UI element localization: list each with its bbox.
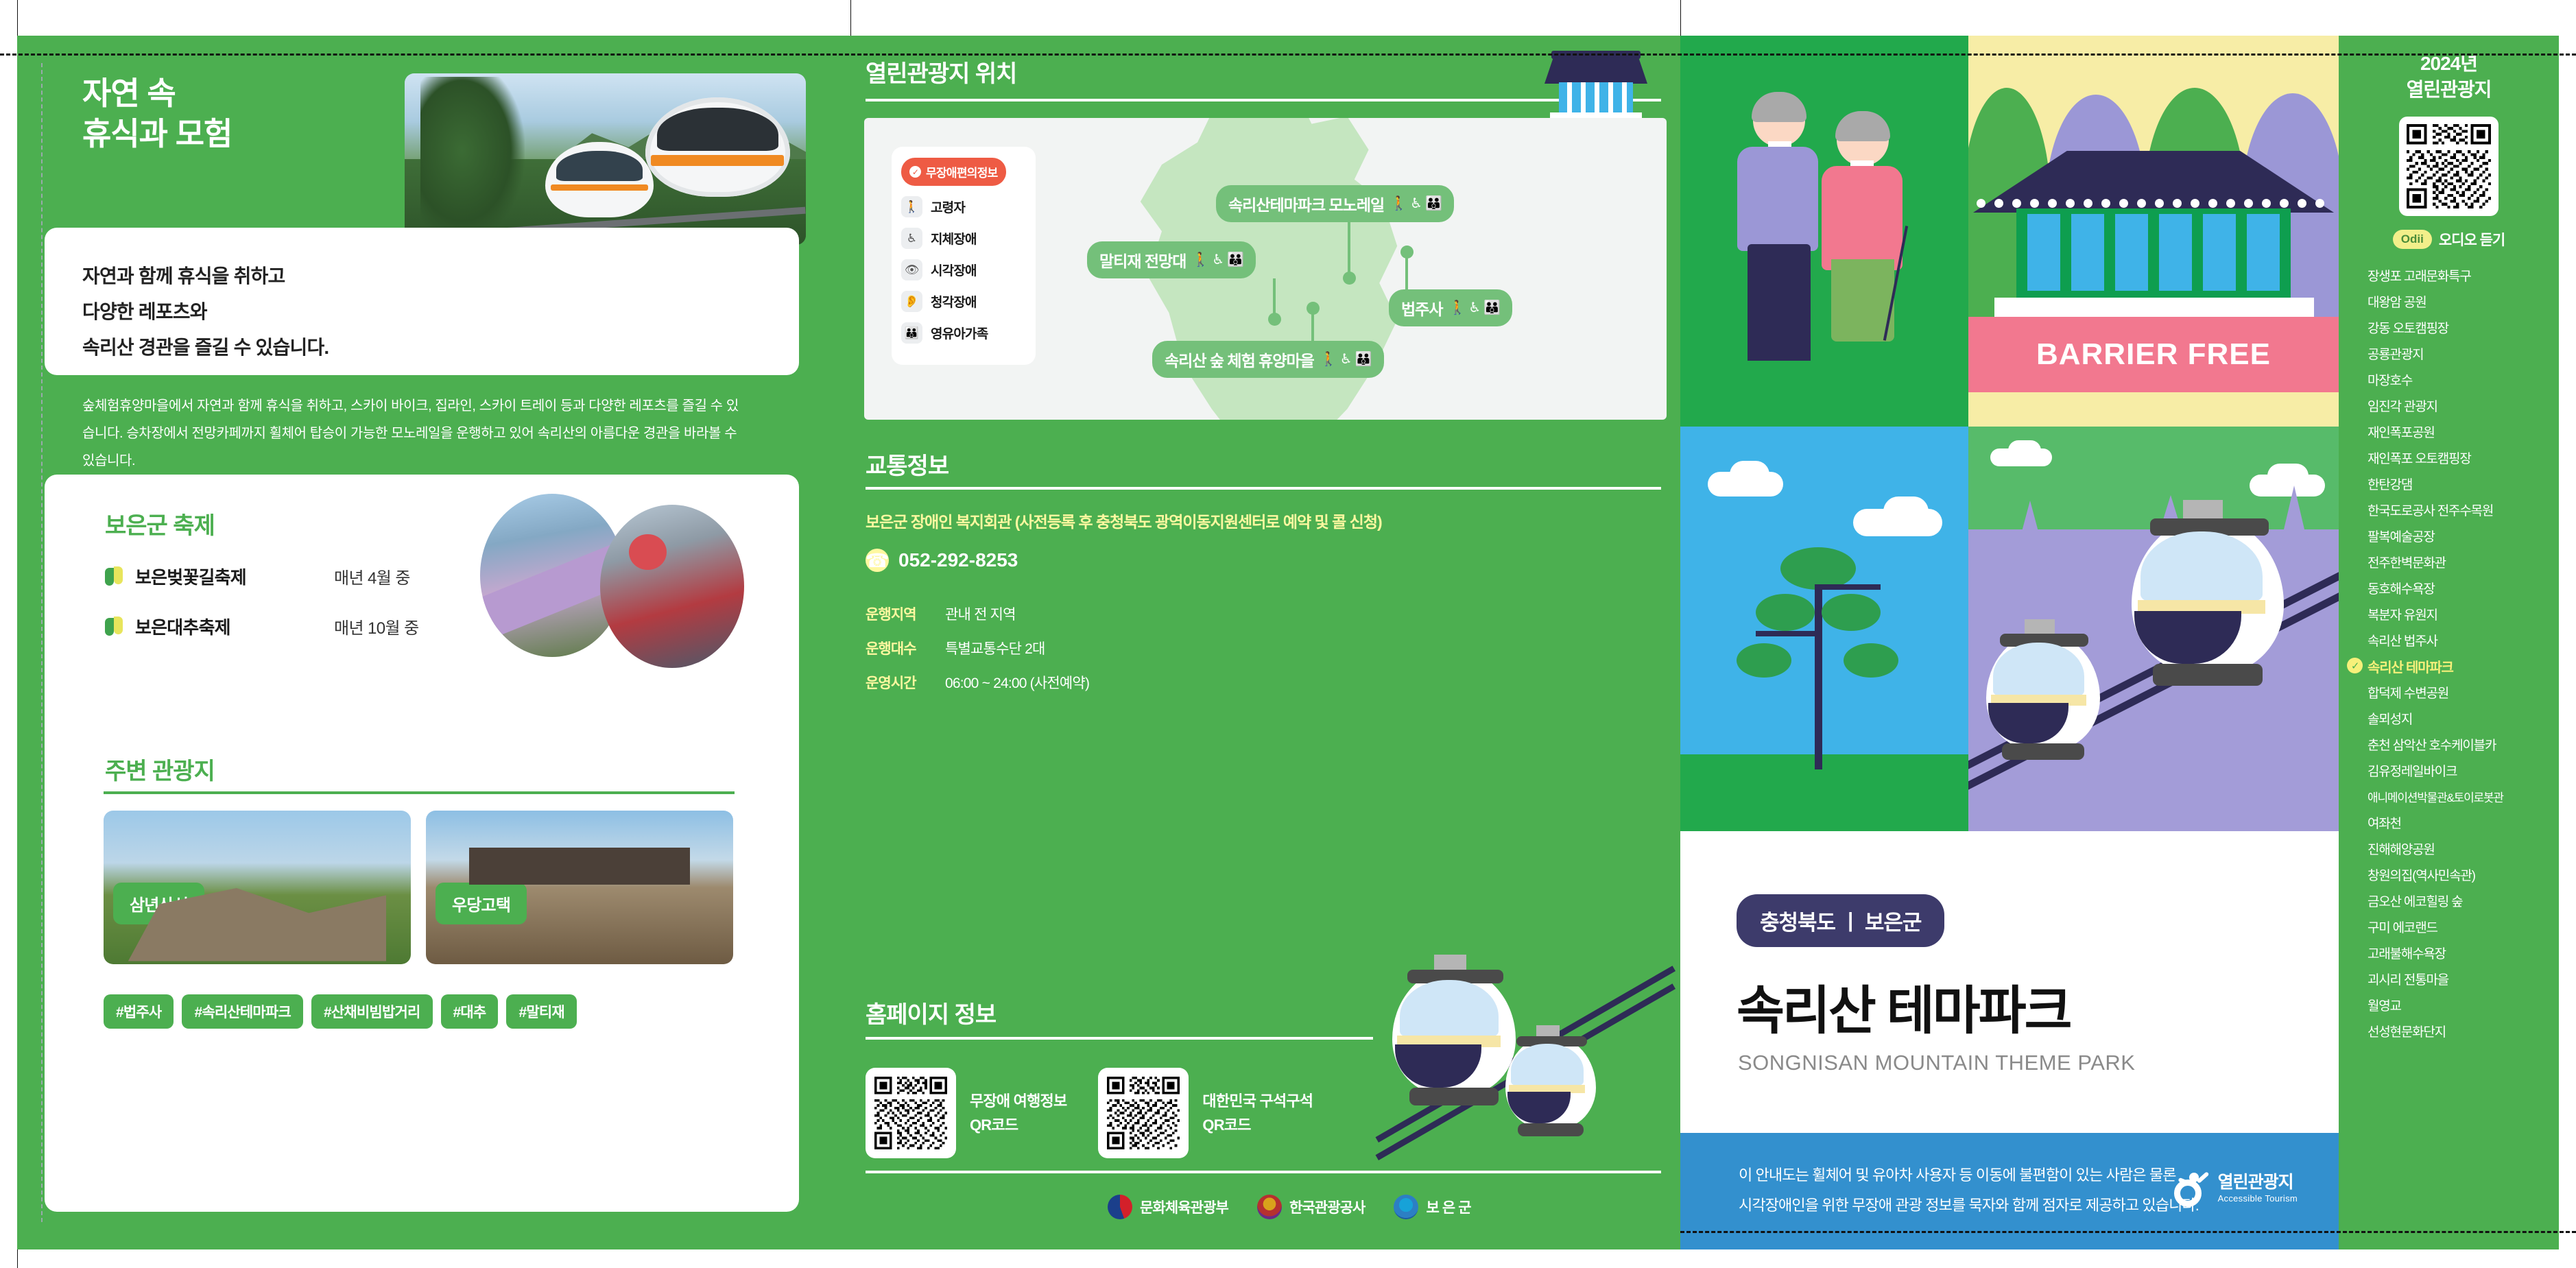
hashtag-chip[interactable]: #법주사 — [104, 994, 174, 1029]
gate-roof — [1545, 56, 1647, 84]
map-marker-icons: 🚶 ♿ 👪 — [1448, 301, 1500, 315]
map-marker-label: 법주사 — [1401, 296, 1442, 320]
festival-nearby-card: 보은군 축제 보은벚꽃길축제 매년 4월 중 보은대추축제 매년 10월 중 주… — [45, 475, 799, 1212]
pine-branch — [1815, 584, 1881, 590]
crop-mark-v4 — [17, 1249, 18, 1268]
traffic-row-value: 관내 전 지역 — [945, 603, 1016, 624]
marker-dot — [1307, 302, 1320, 315]
hashtag-chip[interactable]: #대추 — [441, 994, 499, 1029]
partner-logo-boeun: 보 은 군 — [1394, 1195, 1470, 1219]
qr-code-image — [1098, 1068, 1189, 1158]
family-icon: 👪 — [1483, 301, 1500, 315]
index-item[interactable]: 합덕제 수변공원 — [2339, 679, 2559, 705]
legend-label: 영유아가족 — [931, 324, 988, 342]
crop-mark-v1 — [17, 0, 18, 36]
footer-rule — [866, 1171, 1661, 1173]
index-item[interactable]: 솔뫼성지 — [2339, 705, 2559, 731]
intro-card-text: 자연과 함께 휴식을 취하고 다양한 레포츠와 속리산 경관을 즐길 수 있습니… — [82, 259, 329, 365]
monorail-illustration — [1379, 955, 1667, 1174]
index-item-list: 장생포 고래문화특구 대왕암 공원 강동 오토캠핑장 공룡관광지 마장호수 임진… — [2339, 262, 2559, 1044]
woman-hair — [1835, 111, 1890, 141]
cabin-lower-body — [1395, 1044, 1481, 1088]
map-marker-label: 속리산 숲 체험 휴양마을 — [1165, 348, 1314, 371]
crop-mark-v3 — [1680, 0, 1681, 36]
wheelchair-icon: ♿ — [1410, 197, 1422, 211]
illustration-monorail-mountain — [1968, 427, 2339, 831]
traffic-section-title: 교통정보 — [866, 447, 949, 481]
qr-label-line1: 무장애 여행정보 — [970, 1089, 1066, 1113]
index-item-selected-label: 속리산 테마파크 — [2368, 656, 2453, 676]
nearby-photo-card[interactable]: 삼년산성 — [104, 811, 411, 964]
photo-car-rear-stripe — [551, 184, 648, 191]
index-item[interactable]: 마장호수 — [2339, 366, 2559, 392]
hashtag-list: #법주사 #속리산테마파크 #산채비빔밥거리 #대추 #말티재 — [104, 994, 577, 1029]
cabin-base — [2002, 743, 2084, 760]
hanok-body — [2016, 208, 2291, 298]
photo-pine-tree — [420, 77, 525, 241]
index-item[interactable]: 복분자 유원지 — [2339, 601, 2559, 627]
index-item[interactable]: 고래불해수욕장 — [2339, 940, 2559, 966]
map-marker-beopjusa[interactable]: 법주사 🚶 ♿ 👪 — [1389, 289, 1512, 326]
map-marker-maltijae[interactable]: 말티재 전망대 🚶 ♿ 👪 — [1087, 241, 1256, 278]
audio-guide-row[interactable]: Odii 오디오 듣기 — [2339, 229, 2559, 250]
traffic-row-value: 특별교통수단 2대 — [945, 638, 1045, 658]
audio-guide-label: 오디오 듣기 — [2439, 229, 2505, 250]
index-item[interactable]: 여좌천 — [2339, 809, 2559, 835]
fold-line-top — [0, 53, 2576, 56]
monorail-cabin-lower — [1505, 1036, 1596, 1129]
traffic-title-rule — [866, 487, 1661, 490]
panel-a-title: 자연 속 휴식과 모험 — [82, 73, 232, 154]
festival-name: 보은대추축제 — [135, 614, 334, 639]
panel-nature-info: 자연 속 휴식과 모험 자연과 함께 휴식을 취하고 다양한 레포츠와 속리산 … — [17, 36, 850, 1249]
map-marker-forest-village[interactable]: 속리산 숲 체험 휴양마을 🚶 ♿ 👪 — [1152, 341, 1384, 378]
hearing-impaired-icon: 👂 — [901, 291, 922, 312]
partner-name: 한국관광공사 — [1289, 1197, 1365, 1217]
traffic-row-area: 운행지역 관내 전 지역 — [866, 603, 1016, 624]
cloud-icon — [2008, 440, 2041, 461]
traffic-row-key: 운행대수 — [866, 638, 931, 658]
elderly-woman-figure — [1809, 104, 1912, 372]
panel-map-traffic: 열린관광지 위치 ✓ 무장애편의정보 🚶 고령자 — [850, 36, 1680, 1249]
traffic-phone-number: 052-292-8253 — [898, 549, 1018, 571]
homepage-section-title: 홈페이지 정보 — [866, 996, 996, 1029]
illustration-elderly-couple — [1680, 36, 1968, 427]
family-icon: 👪 — [1425, 197, 1442, 211]
bleed-guide-left — [41, 63, 43, 1222]
brochure-sheet: 자연 속 휴식과 모험 자연과 함께 휴식을 취하고 다양한 레포츠와 속리산 … — [0, 0, 2576, 1268]
legend-label: 지체장애 — [931, 229, 977, 248]
festival-section-title: 보은군 축제 — [105, 507, 215, 540]
partner-logo-kto: 한국관광공사 — [1257, 1195, 1365, 1219]
legend-row-vision: 👁 시각장애 — [901, 259, 1026, 280]
map-marker-label: 말티재 전망대 — [1099, 248, 1186, 272]
barrier-free-text: BARRIER FREE — [2036, 337, 2271, 372]
map-marker-monorail[interactable]: 속리산테마파크 모노레일 🚶 ♿ 👪 — [1216, 185, 1454, 222]
panel-site-index: 2024년 열린관광지 — [2339, 36, 2559, 1249]
qr-code-image — [866, 1068, 956, 1158]
qr-label-line1: 대한민국 구석구석 — [1202, 1089, 1313, 1113]
festival-name: 보은벚꽃길축제 — [135, 564, 334, 589]
photo-car-front-stripe — [651, 155, 784, 166]
check-icon: ✓ — [909, 166, 921, 178]
hashtag-chip[interactable]: #산채비빔밥거리 — [311, 994, 433, 1029]
pine-branch — [1756, 631, 1819, 636]
index-qr-code[interactable] — [2399, 117, 2499, 216]
festival-date: 매년 4월 중 — [334, 564, 410, 588]
index-item-selected[interactable]: ✓ 속리산 테마파크 — [2339, 653, 2559, 679]
illustration-hanok-pavilion: BARRIER FREE — [1968, 36, 2339, 427]
traffic-phone[interactable]: ☎ 052-292-8253 — [866, 549, 1018, 572]
cabin-base — [2153, 664, 2263, 686]
nearby-photo-label: 우당고택 — [436, 883, 527, 924]
pine-ground — [1680, 754, 1968, 831]
index-item[interactable]: 공룡관광지 — [2339, 340, 2559, 366]
legend-label: 청각장애 — [931, 292, 977, 311]
homepage-title-rule — [866, 1037, 1373, 1040]
nearby-photo-card[interactable]: 우당고택 — [426, 811, 733, 964]
index-item[interactable]: 김유정레일바이크 — [2339, 757, 2559, 783]
index-item[interactable]: 재인폭포공원 — [2339, 418, 2559, 444]
panel-a-title-line1: 자연 속 — [82, 73, 232, 114]
legend-row-wheelchair: ♿ 지체장애 — [901, 228, 1026, 249]
festival-row: 보은대추축제 매년 10월 중 — [105, 614, 419, 639]
nearby-photo-list: 삼년산성 우당고택 — [104, 811, 733, 964]
qr-label-line2: QR코드 — [970, 1113, 1066, 1137]
cloud-icon — [1730, 461, 1769, 488]
pine-foliage — [1737, 643, 1791, 678]
cloud-icon — [1883, 497, 1929, 527]
wheelchair-icon: ♿ — [901, 228, 922, 249]
qr-label: 무장애 여행정보 QR코드 — [970, 1089, 1066, 1137]
man-hair — [1752, 92, 1806, 122]
odii-brand-chip: Odii — [2393, 230, 2432, 249]
qr-item-korea-guide[interactable]: 대한민국 구석구석 QR코드 — [1098, 1068, 1313, 1158]
map-marker-icons: 🚶 ♿ 👪 — [1192, 253, 1243, 267]
photo-car-rear-window — [556, 151, 643, 181]
map-marker-icons: 🚶 ♿ 👪 — [1390, 197, 1442, 211]
index-item[interactable]: 괴시리 전통마을 — [2339, 966, 2559, 992]
gate-body — [1559, 82, 1633, 113]
traffic-row-hours: 운영시간 06:00 ~ 24:00 (사전예약) — [866, 672, 1089, 693]
index-title-label: 열린관광지 — [2339, 77, 2559, 103]
intro-line-2: 다양한 레포츠와 — [82, 301, 207, 322]
marker-stem — [1348, 221, 1350, 277]
cloud-icon — [2267, 464, 2309, 488]
accessible-tourism-wordmark: 열린관광지 Accessible Tourism — [2218, 1173, 2298, 1206]
footer-line-2: 시각장애인을 위한 무장애 관광 정보를 묵자와 함께 점자로 제공하고 있습니… — [1739, 1197, 2199, 1214]
legend-row-elderly: 🚶 고령자 — [901, 196, 1026, 217]
cabin-base — [1518, 1123, 1583, 1136]
qr-code-list: 무장애 여행정보 QR코드 — [866, 1068, 1313, 1158]
man-cardigan — [1737, 147, 1818, 251]
legend-label: 시각장애 — [931, 261, 977, 279]
index-item[interactable]: 선성현문화단지 — [2339, 1018, 2559, 1044]
footer-line-1: 이 안내도는 휠체어 및 유아차 사용자 등 이동에 불편함이 있는 사람은 물… — [1739, 1167, 2176, 1184]
festival-photo-jujube-market — [600, 505, 744, 668]
cabin-base — [1409, 1088, 1499, 1105]
index-item[interactable]: 애니메이션박물관&토이로봇관 — [2339, 783, 2559, 809]
index-item[interactable]: 한국도로공사 전주수목원 — [2339, 497, 2559, 523]
wheelchair-icon: ♿ — [1212, 253, 1224, 267]
festival-list: 보은벚꽃길축제 매년 4월 중 보은대추축제 매년 10월 중 — [105, 564, 419, 664]
legend-title-chip: ✓ 무장애편의정보 — [901, 158, 1006, 186]
elderly-icon: 🚶 — [1320, 352, 1337, 366]
pine-foliage — [1844, 643, 1898, 678]
map-marker-icons: 🚶 ♿ 👪 — [1320, 352, 1372, 366]
elderly-icon: 🚶 — [1390, 197, 1407, 211]
cover-title-korean: 속리산 테마파크 — [1737, 968, 2071, 1044]
accessible-sites-map[interactable]: ✓ 무장애편의정보 🚶 고령자 ♿ 지체장애 👁 시각장애 👂 청각장 — [864, 118, 1667, 420]
intro-line-1: 자연과 함께 휴식을 취하고 — [82, 265, 285, 287]
marker-dot — [1343, 272, 1356, 285]
index-item[interactable]: 강동 오토캠핑장 — [2339, 314, 2559, 340]
mcst-emblem-icon — [1108, 1195, 1132, 1219]
fold-line-bottom — [1680, 1231, 2576, 1233]
index-item[interactable]: 진해해양공원 — [2339, 835, 2559, 861]
logo-korean: 열린관광지 — [2218, 1173, 2298, 1193]
qr-label: 대한민국 구석구석 QR코드 — [1202, 1089, 1313, 1137]
woman-jacket — [1822, 166, 1903, 270]
festival-row: 보은벚꽃길축제 매년 4월 중 — [105, 564, 419, 589]
map-legend: ✓ 무장애편의정보 🚶 고령자 ♿ 지체장애 👁 시각장애 👂 청각장 — [892, 147, 1036, 365]
illustration-pine-scene — [1680, 427, 1968, 831]
region-badge: 충청북도 ㅣ 보은군 — [1737, 894, 1944, 947]
index-item[interactable]: 속리산 법주사 — [2339, 627, 2559, 653]
hashtag-chip[interactable]: #말티재 — [506, 994, 576, 1029]
monorail-cabin-upper — [1392, 968, 1516, 1095]
logo-english: Accessible Tourism — [2218, 1193, 2298, 1204]
index-title: 2024년 열린관광지 — [2339, 51, 2559, 103]
panel-cover: BARRIER FREE — [1680, 36, 2339, 1249]
marker-dot — [1400, 246, 1414, 259]
traffic-main-text: 보은군 장애인 복지회관 (사전등록 후 충청북도 광역이동지원센터로 예약 및… — [866, 509, 1382, 532]
wheelchair-icon: ♿ — [1340, 352, 1352, 366]
cover-title-english: SONGNISAN MOUNTAIN THEME PARK — [1738, 1051, 2135, 1075]
intro-line-3: 속리산 경관을 즐길 수 있습니다. — [82, 337, 329, 358]
index-item[interactable]: 동호해수욕장 — [2339, 575, 2559, 601]
family-icon: 👪 — [901, 322, 922, 344]
boeun-emblem-icon — [1394, 1195, 1418, 1219]
kto-emblem-icon — [1257, 1195, 1282, 1219]
index-item[interactable]: 대왕암 공원 — [2339, 288, 2559, 314]
accessible-tourism-icon — [2174, 1171, 2210, 1207]
cabin-window — [2140, 531, 2263, 602]
panel-a-title-line2: 휴식과 모험 — [82, 114, 232, 154]
vision-impaired-icon: 👁 — [901, 259, 922, 280]
barrier-free-banner: BARRIER FREE — [1968, 317, 2339, 392]
pine-foliage — [1756, 594, 1815, 631]
elderly-icon: 🚶 — [1448, 301, 1465, 315]
cabin-window — [1993, 643, 2084, 695]
qr-label-line2: QR코드 — [1202, 1113, 1313, 1137]
cabin-window — [1511, 1044, 1584, 1086]
leaf-icon — [105, 617, 123, 637]
phone-icon: ☎ — [866, 549, 889, 572]
map-marker-label: 속리산테마파크 모노레일 — [1228, 192, 1384, 215]
photo-monorail-car-rear — [545, 142, 654, 217]
traffic-row-key: 운영시간 — [866, 672, 931, 693]
elderly-icon: 🚶 — [901, 196, 922, 217]
hashtag-chip[interactable]: #속리산테마파크 — [182, 994, 303, 1029]
index-item[interactable]: 장생포 고래문화특구 — [2339, 262, 2559, 288]
legend-label: 고령자 — [931, 198, 965, 216]
legend-row-family: 👪 영유아가족 — [901, 322, 1026, 344]
hanok-gate-icon — [1545, 47, 1647, 119]
qr-item-barrier-free-travel[interactable]: 무장애 여행정보 QR코드 — [866, 1068, 1066, 1158]
nearby-photo-label: 삼년산성 — [113, 883, 204, 924]
cabin-lower-body — [1507, 1092, 1571, 1123]
elderly-icon: 🚶 — [1192, 253, 1208, 267]
traffic-row-value: 06:00 ~ 24:00 (사전예약) — [945, 672, 1089, 693]
nearby-section-title: 주변 관광지 — [105, 752, 215, 786]
legend-row-hearing: 👂 청각장애 — [901, 291, 1026, 312]
marker-dot — [1268, 313, 1281, 326]
partner-logo-list: 문화체육관광부 한국관광공사 보 은 군 — [1108, 1195, 1471, 1219]
partner-name: 보 은 군 — [1426, 1197, 1470, 1217]
index-item[interactable]: 전주한벽문화관 — [2339, 549, 2559, 575]
index-item[interactable]: 금오산 에코힐링 숲 — [2339, 887, 2559, 913]
leaf-icon — [105, 566, 123, 587]
index-item[interactable]: 재인폭포 오토캠핑장 — [2339, 444, 2559, 470]
partner-logo-mcst: 문화체육관광부 — [1108, 1195, 1228, 1219]
map-section-title: 열린관광지 위치 — [866, 55, 1016, 88]
index-item[interactable]: 춘천 삼악산 호수케이블카 — [2339, 731, 2559, 757]
index-item[interactable]: 한탄강댐 — [2339, 470, 2559, 497]
family-icon: 👪 — [1227, 253, 1243, 267]
index-item[interactable]: 임진각 관광지 — [2339, 392, 2559, 418]
family-icon: 👪 — [1355, 352, 1372, 366]
cabin-window — [1400, 980, 1499, 1037]
legend-title-text: 무장애편의정보 — [926, 163, 998, 180]
pine-foliage — [1822, 594, 1881, 631]
wheelchair-icon: ♿ — [1468, 301, 1480, 315]
nearby-section-rule — [104, 791, 735, 794]
check-icon: ✓ — [2347, 658, 2363, 673]
cover-footer-text: 이 안내도는 휠체어 및 유아차 사용자 등 이동에 불편함이 있는 사람은 물… — [1739, 1160, 2199, 1221]
index-item[interactable]: 월영교 — [2339, 992, 2559, 1018]
map-title-rule — [866, 99, 1661, 101]
man-trousers — [1748, 244, 1811, 361]
index-item[interactable]: 구미 에코랜드 — [2339, 913, 2559, 940]
panel-a-body-text: 숲체험휴양마을에서 자연과 함께 휴식을 취하고, 스카이 바이크, 집라인, … — [82, 392, 741, 475]
pine-foliage — [1780, 547, 1856, 590]
index-item[interactable]: 창원의집(역사민속관) — [2339, 861, 2559, 887]
festival-date: 매년 10월 중 — [334, 614, 419, 638]
traffic-row-key: 운행지역 — [866, 603, 931, 624]
accessible-tourism-logo: 열린관광지 Accessible Tourism — [2174, 1171, 2298, 1207]
photo-car-front-window — [657, 108, 778, 152]
cover-title-block: 충청북도 ㅣ 보은군 속리산 테마파크 SONGNISAN MOUNTAIN T… — [1680, 831, 2339, 1140]
festival-photos — [480, 494, 748, 638]
hanok-platform — [1994, 298, 2314, 317]
intro-card: 자연과 함께 휴식을 취하고 다양한 레포츠와 속리산 경관을 즐길 수 있습니… — [45, 228, 799, 375]
crop-mark-v2 — [850, 0, 851, 36]
index-item[interactable]: 팔복예술공장 — [2339, 523, 2559, 549]
traffic-row-vehicles: 운행대수 특별교통수단 2대 — [866, 638, 1045, 658]
partner-name: 문화체육관광부 — [1140, 1197, 1228, 1217]
monorail-photo — [405, 73, 806, 245]
